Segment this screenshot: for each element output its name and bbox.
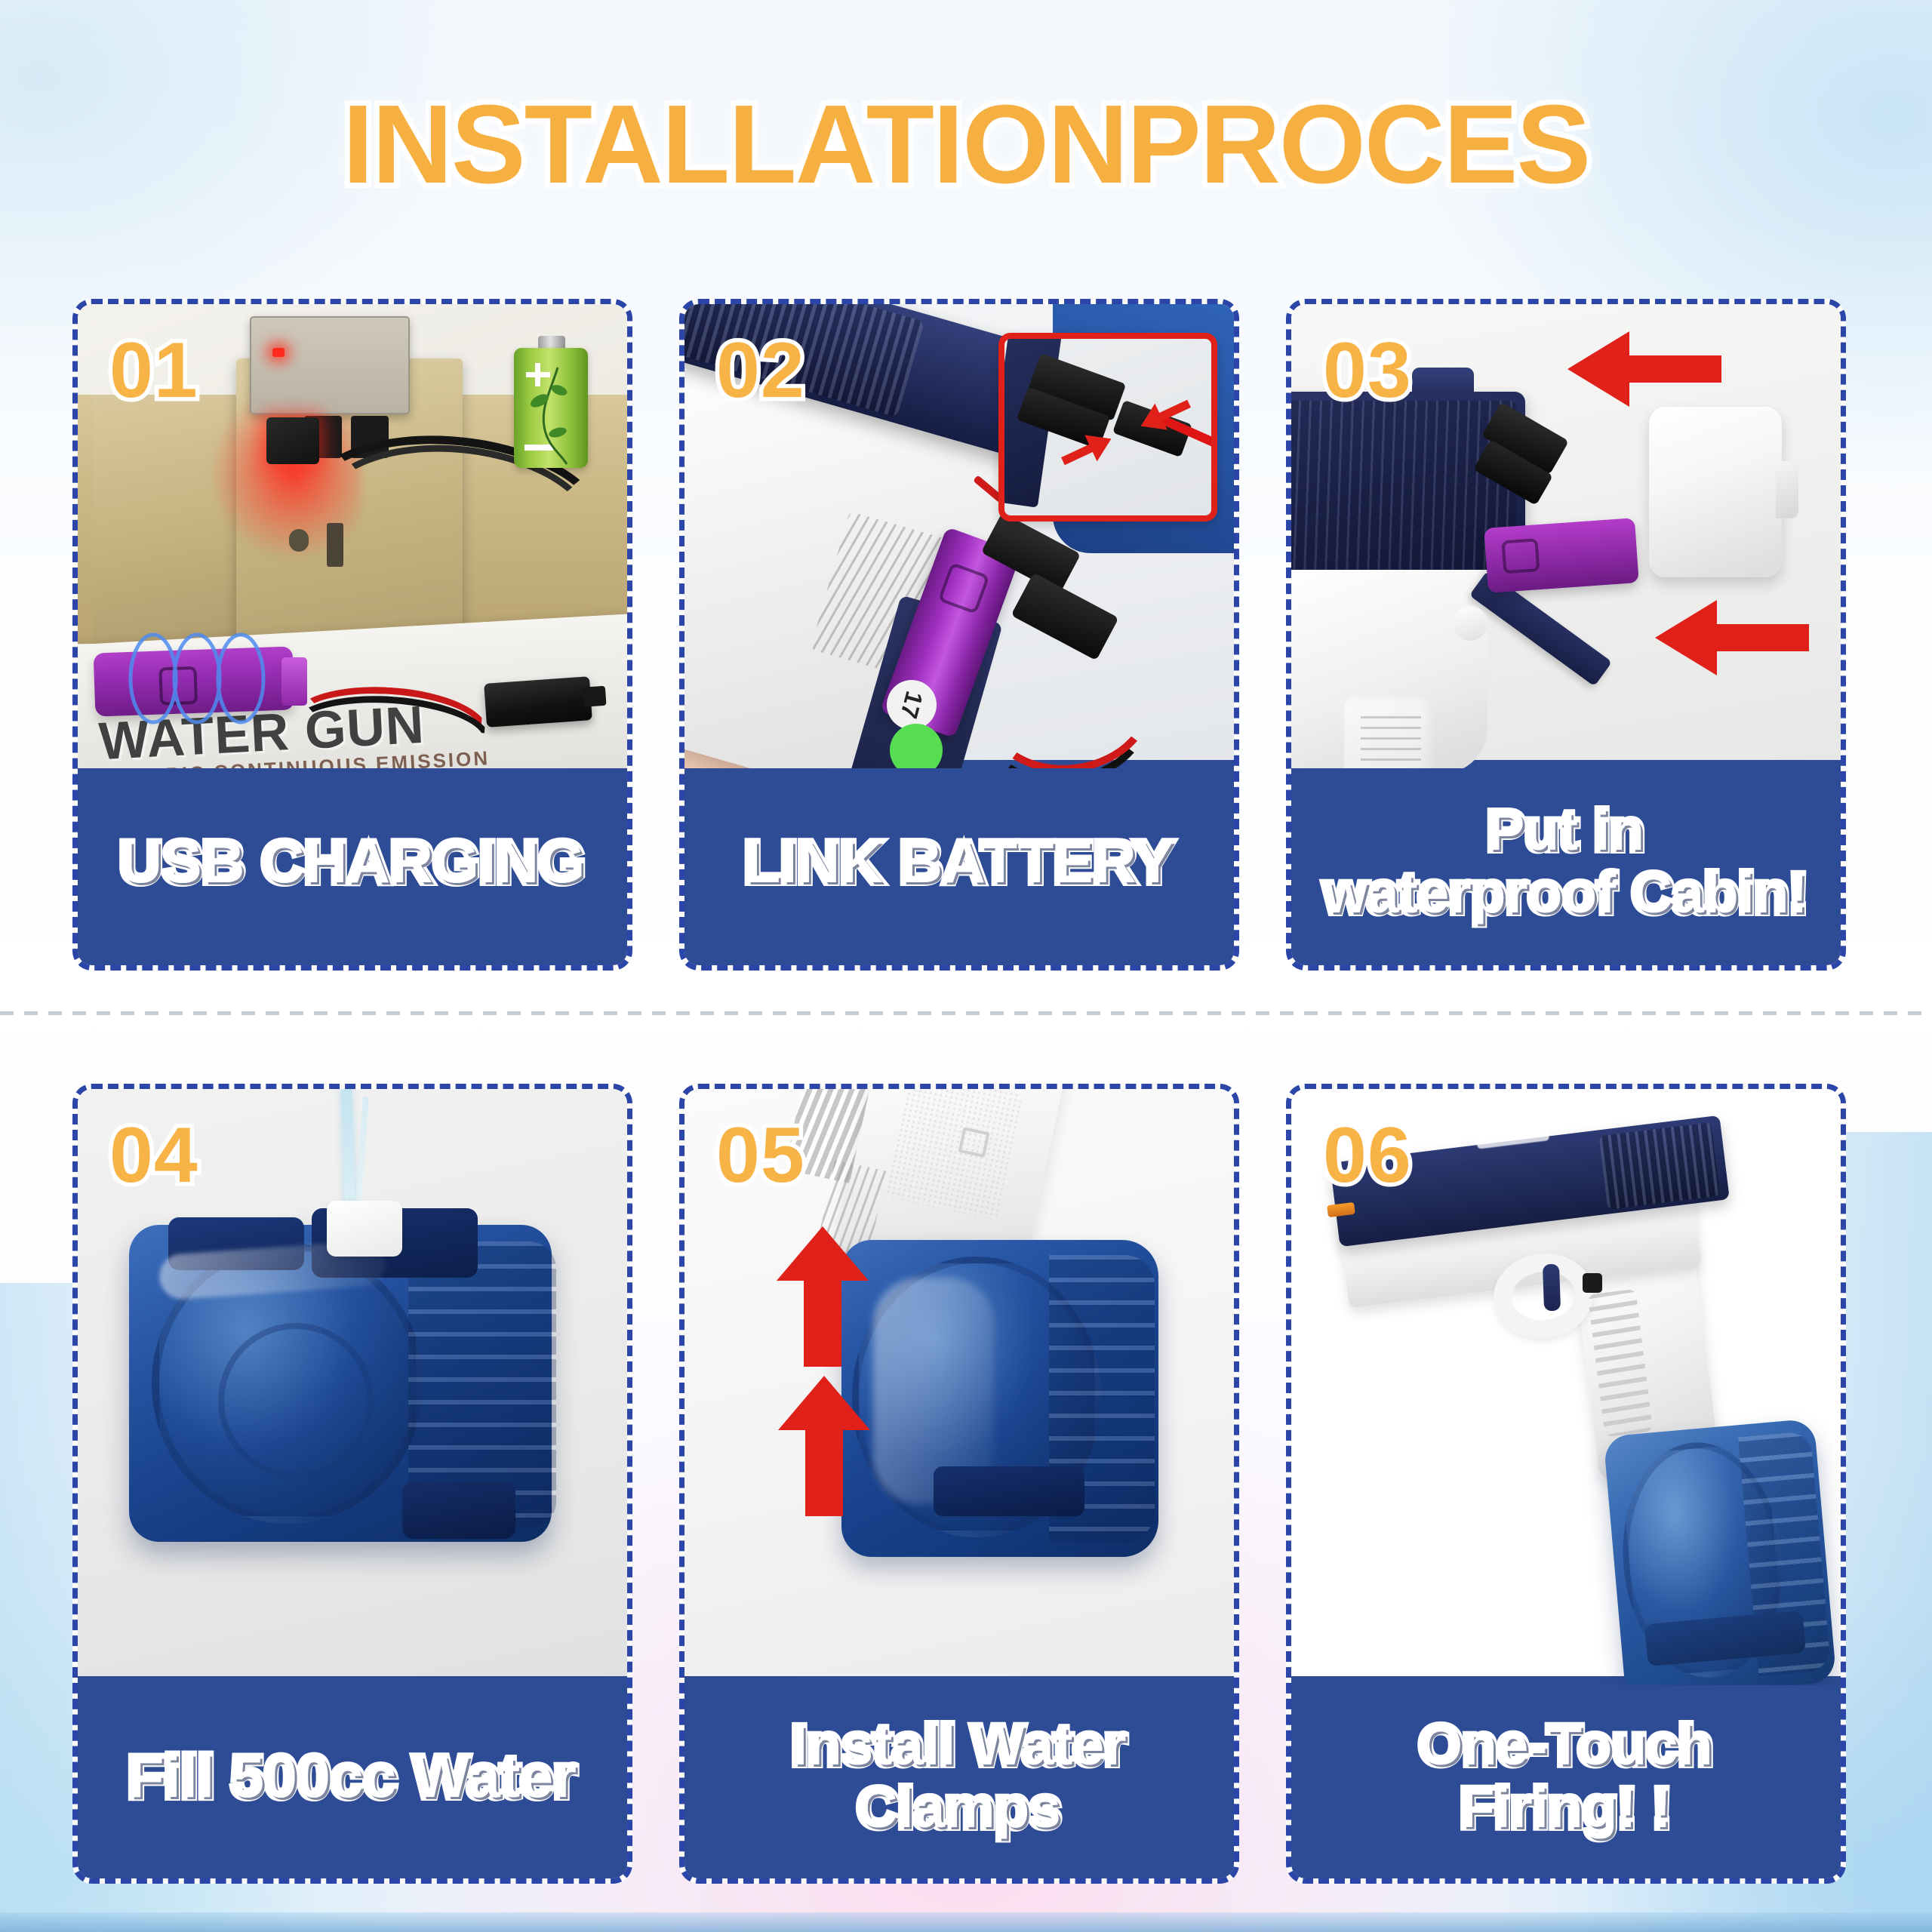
step-label-06: One-Touch Firing! ! (1419, 1715, 1713, 1840)
background-bottom-strip (0, 1912, 1932, 1932)
arrow-up-icon (774, 1225, 872, 1368)
connector-closeup-inset (998, 333, 1217, 521)
step-cell-03: 03 Put in waterproof Cabin! (1286, 299, 1890, 971)
eco-battery-icon (514, 336, 588, 468)
drum-clip-band (934, 1466, 1084, 1516)
step-label-05-line-1: Install Water (792, 1714, 1127, 1777)
step-label-03-line-1: Put in (1487, 799, 1645, 862)
arrow-up-icon (775, 1374, 873, 1518)
step-label-03-line-2: waterproof Cabin! (1324, 862, 1808, 924)
waterproof-cabin-cap (1649, 407, 1782, 577)
step-card-06[interactable]: 06 One-Touch Firing! ! (1286, 1084, 1846, 1884)
frame-texture (885, 1089, 1023, 1220)
grip-texture (1361, 716, 1421, 768)
step-card-03[interactable]: 03 Put in waterproof Cabin! (1286, 299, 1846, 971)
step-label-06-line-1: One-Touch (1419, 1714, 1713, 1777)
rail-pivot (1453, 606, 1487, 641)
step-card-04[interactable]: 04 Fill 500cc Water (72, 1084, 632, 1884)
step-photo-02: 17 (685, 304, 1234, 768)
frame-marking (958, 1127, 989, 1158)
page-title: INSTALLATIONPROCES (0, 89, 1932, 201)
step-cell-04: 04 Fill 500cc Water (72, 1084, 676, 1884)
drum-bottom-clip (402, 1481, 515, 1539)
jst-connector (484, 676, 592, 728)
step-cell-01: WATER GUN ELECTRIC CONTINUOUS EMISSION (72, 299, 676, 971)
step-label-02: LINK BATTERY (744, 829, 1174, 895)
body-texture (1291, 401, 1516, 571)
charging-led-icon (272, 348, 285, 357)
step-number-01: 01 (109, 331, 198, 410)
step-number-06: 06 (1323, 1116, 1412, 1195)
battery-glow-coil (118, 629, 292, 727)
step-label-05-line-2: Clamps (857, 1777, 1061, 1839)
slide-serrations (1598, 1122, 1720, 1210)
wire-red (981, 670, 1163, 768)
steps-grid: WATER GUN ELECTRIC CONTINUOUS EMISSION (72, 299, 1860, 1884)
fill-port-plug (327, 1201, 402, 1257)
step-label-band-02: LINK BATTERY (685, 760, 1234, 965)
step-label-band-04: Fill 500cc Water (78, 1676, 627, 1878)
step-label-04: Fill 500cc Water (128, 1744, 577, 1810)
step-label-06-line-2: Firing! ! (1460, 1777, 1672, 1839)
step-card-01[interactable]: WATER GUN ELECTRIC CONTINUOUS EMISSION (72, 299, 632, 971)
step-cell-06: 06 One-Touch Firing! ! (1286, 1084, 1890, 1884)
step-card-05[interactable]: 05 Install Water Clamps (679, 1084, 1239, 1884)
step-photo-04: 04 (78, 1089, 627, 1685)
step-label-band-03: Put in waterproof Cabin! (1291, 760, 1841, 965)
battery-body (514, 348, 588, 468)
step-photo-05: 05 (685, 1089, 1234, 1685)
step-label-band-06: One-Touch Firing! ! (1291, 1676, 1841, 1878)
step-number-03: 03 (1323, 331, 1412, 410)
arrow-left-icon (1564, 328, 1723, 410)
step-cell-02: 17 (679, 299, 1283, 971)
step-number-05: 05 (716, 1116, 805, 1195)
step-label-05: Install Water Clamps (792, 1715, 1127, 1840)
step-label-01: USB CHARGING (119, 829, 585, 895)
step-number-04: 04 (109, 1116, 198, 1195)
step-card-02[interactable]: 17 (679, 299, 1239, 971)
step-cell-05: 05 Install Water Clamps (679, 1084, 1283, 1884)
step-label-band-01: USB CHARGING (78, 760, 627, 965)
step-photo-06: 06 (1291, 1089, 1841, 1685)
step-label-band-05: Install Water Clamps (685, 1676, 1234, 1878)
power-button[interactable] (1583, 1273, 1602, 1293)
jst-connector-female (1011, 573, 1118, 661)
usb-plug (266, 417, 319, 464)
arrow-left-icon (1652, 597, 1810, 678)
step-photo-01: WATER GUN ELECTRIC CONTINUOUS EMISSION (78, 304, 627, 768)
leaf-vine-icon (514, 348, 588, 480)
step-photo-03: 03 (1291, 304, 1841, 768)
step-number-02: 02 (716, 331, 805, 410)
outlet-flap (250, 316, 410, 414)
trigger (1543, 1264, 1561, 1312)
step-label-03: Put in waterproof Cabin! (1324, 800, 1808, 925)
